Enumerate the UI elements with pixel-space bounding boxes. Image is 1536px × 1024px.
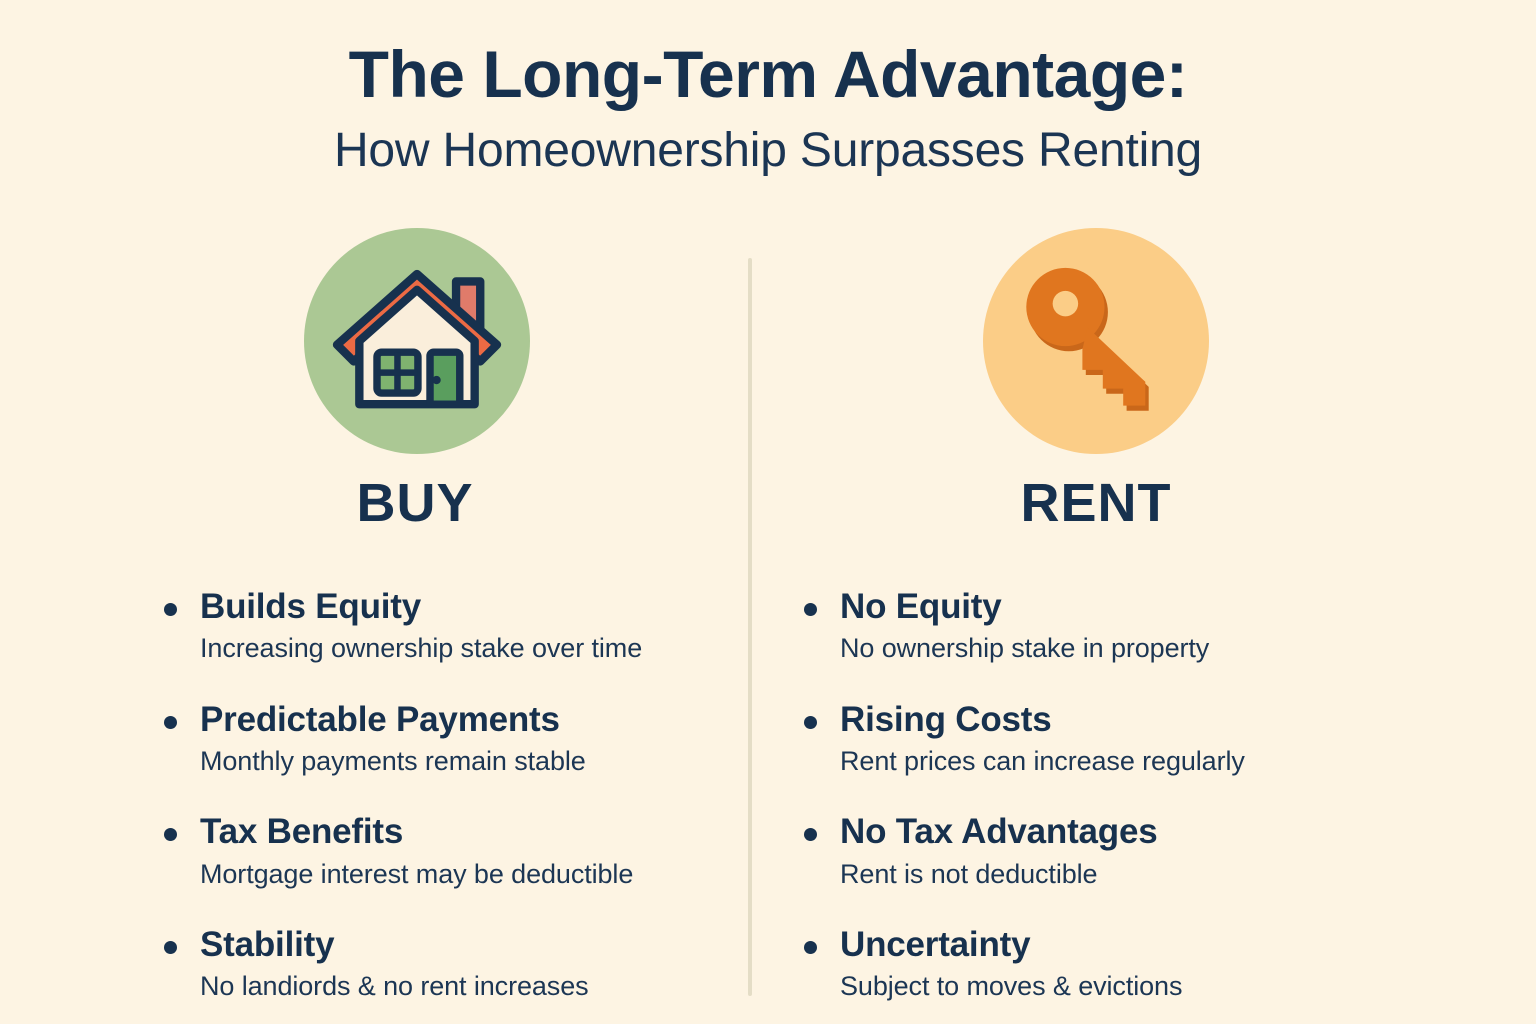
bullet-dot-icon	[804, 828, 817, 841]
page-subtitle: How Homeownership Surpasses Renting	[0, 124, 1536, 178]
list-item-description: Mortgage interest may be deductible	[200, 858, 740, 890]
column-buy: BUY Builds Equity Increasing ownership s…	[80, 222, 740, 1019]
vertical-divider	[748, 258, 752, 996]
list-item: Uncertainty Subject to moves & evictions	[762, 924, 1422, 1003]
buy-badge	[304, 228, 530, 454]
list-item-heading: Stability	[200, 924, 740, 965]
list-item-heading: Tax Benefits	[200, 811, 740, 852]
rent-drawback-list: No Equity No ownership stake in property…	[762, 586, 1422, 1003]
list-item-description: Monthly payments remain stable	[200, 745, 740, 777]
column-rent: RENT No Equity No ownership stake in pro…	[762, 222, 1422, 1019]
rent-badge	[983, 228, 1209, 454]
list-item: Predictable Payments Monthly payments re…	[80, 699, 740, 778]
bullet-dot-icon	[164, 941, 177, 954]
bullet-dot-icon	[164, 603, 177, 616]
header: The Long-Term Advantage: How Homeownersh…	[0, 38, 1536, 178]
infographic-canvas: The Long-Term Advantage: How Homeownersh…	[0, 0, 1536, 1024]
list-item-heading: Builds Equity	[200, 586, 740, 627]
bullet-dot-icon	[804, 716, 817, 729]
rent-icon-wrap	[762, 222, 1422, 460]
buy-benefit-list: Builds Equity Increasing ownership stake…	[80, 586, 740, 1003]
buy-icon-wrap	[80, 222, 740, 460]
list-item-description: Rent prices can increase regularly	[840, 745, 1422, 777]
list-item: No Equity No ownership stake in property	[762, 586, 1422, 665]
list-item: Stability No landiords & no rent increas…	[80, 924, 740, 1003]
key-icon	[1011, 256, 1181, 426]
list-item-heading: No Tax Advantages	[840, 811, 1422, 852]
list-item-description: No landiords & no rent increases	[200, 970, 740, 1002]
column-label-rent: RENT	[762, 472, 1422, 534]
list-item: Rising Costs Rent prices can increase re…	[762, 699, 1422, 778]
list-item-description: No ownership stake in property	[840, 632, 1422, 664]
house-icon	[324, 248, 510, 434]
list-item: No Tax Advantages Rent is not deductible	[762, 811, 1422, 890]
bullet-dot-icon	[164, 716, 177, 729]
list-item-heading: Predictable Payments	[200, 699, 740, 740]
list-item-heading: Rising Costs	[840, 699, 1422, 740]
list-item: Tax Benefits Mortgage interest may be de…	[80, 811, 740, 890]
bullet-dot-icon	[164, 828, 177, 841]
bullet-dot-icon	[804, 941, 817, 954]
list-item-heading: No Equity	[840, 586, 1422, 627]
list-item-description: Increasing ownership stake over time	[200, 632, 740, 664]
page-title: The Long-Term Advantage:	[0, 38, 1536, 112]
list-item-description: Subject to moves & evictions	[840, 970, 1422, 1002]
bullet-dot-icon	[804, 603, 817, 616]
column-label-buy: BUY	[80, 472, 740, 534]
list-item-heading: Uncertainty	[840, 924, 1422, 965]
list-item-description: Rent is not deductible	[840, 858, 1422, 890]
list-item: Builds Equity Increasing ownership stake…	[80, 586, 740, 665]
